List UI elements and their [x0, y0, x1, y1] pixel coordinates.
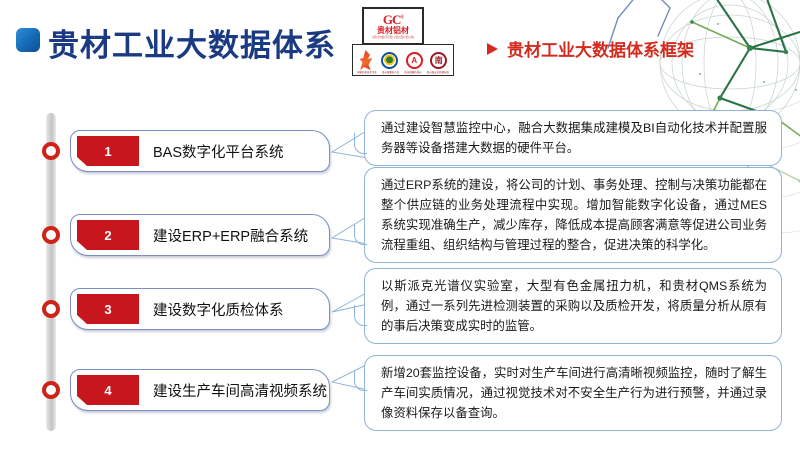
timeline-node-4 [42, 381, 60, 399]
timeline-item-3[interactable]: 3 建设数字化质检体系 [70, 288, 330, 330]
timeline-node-1 [42, 142, 60, 160]
timeline-node-3 [42, 300, 60, 318]
timeline-number-4: 4 [77, 375, 139, 405]
timeline-description-text-1: 通过建设智慧监控中心，融合大数据集成建模及BI自动化技术并配置服务器等设备搭建大… [381, 121, 767, 155]
seal-dark-red-icon [430, 52, 447, 69]
certificate-captions: 国家高新技术企业 贵州省著名产品 贵州省著名商标 贵州省安全质量标准 [355, 70, 452, 74]
page-title: 贵材工业大数据体系 [48, 20, 336, 65]
flame-badge-icon [359, 50, 374, 70]
bubble-tail-1 [354, 133, 367, 154]
certificate-caption: 国家高新技术企业 [357, 70, 377, 74]
seal-red-a-icon [406, 52, 423, 69]
timeline-node-2 [42, 226, 60, 244]
timeline-item-4[interactable]: 4 建设生产车间高清视频系统 [70, 369, 330, 411]
brand-logo-name: 贵材铝材 [377, 27, 409, 35]
timeline-description-4: 新增20套监控设备，实时对生产车间进行高清晰视频监控，随时了解生产车间实质情况，… [364, 355, 782, 431]
framework-heading-label: 贵材工业大数据体系框架 [507, 36, 694, 61]
brand-logo-mark: GC® [383, 13, 403, 26]
brand-logo-mark-text: GC [383, 12, 401, 27]
square-bullet-icon [16, 28, 40, 52]
timeline-number-2: 2 [77, 220, 139, 250]
brand-logo: GC® 贵材铝材 [铝]合[板]带[箔] [铝][窗][型][材] [362, 7, 424, 45]
timeline-description-text-4: 新增20套监控设备，实时对生产车间进行高清晰视频监控，随时了解生产车间实质情况，… [381, 366, 767, 420]
certificate-caption: 贵州省著名商标 [404, 70, 421, 74]
timeline-label-1: BAS数字化平台系统 [153, 141, 284, 162]
framework-heading: 贵材工业大数据体系框架 [487, 36, 694, 61]
timeline-number-1: 1 [77, 136, 139, 166]
certificate-caption: 贵州省安全质量标准 [427, 70, 449, 74]
timeline-label-2: 建设ERP+ERP融合系统 [153, 225, 308, 246]
triangle-right-icon [487, 43, 498, 55]
timeline-description-2: 通过ERP系统的建设，将公司的计划、事务处理、控制与决策功能都在整个供应链的业务… [364, 167, 782, 263]
slide-canvas: 贵材工业大数据体系 GC® 贵材铝材 [铝]合[板]带[箔] [铝][窗][型]… [0, 0, 800, 450]
timeline-label-3: 建设数字化质检体系 [153, 299, 284, 320]
brand-logo-subtext: [铝]合[板]带[箔] [铝][窗][型][材] [372, 36, 414, 39]
timeline-description-text-3: 以斯派克光谱仪实验室，大型有色金属扭力机，和贵材QMS系统为例，通过一系列先进检… [381, 279, 767, 333]
timeline-description-1: 通过建设智慧监控中心，融合大数据集成建模及BI自动化技术并配置服务器等设备搭建大… [364, 110, 782, 166]
timeline-number-3: 3 [77, 294, 139, 324]
timeline-description-3: 以斯派克光谱仪实验室，大型有色金属扭力机，和贵材QMS系统为例，通过一系列先进检… [364, 268, 782, 344]
bubble-tail-3 [354, 305, 367, 326]
certificate-caption: 贵州省著名产品 [382, 70, 399, 74]
timeline-label-4: 建设生产车间高清视频系统 [153, 380, 327, 401]
timeline-description-text-2: 通过ERP系统的建设，将公司的计划、事务处理、控制与决策功能都在整个供应链的业务… [381, 178, 767, 252]
timeline-item-1[interactable]: 1 BAS数字化平台系统 [70, 130, 330, 172]
timeline-item-2[interactable]: 2 建设ERP+ERP融合系统 [70, 214, 330, 256]
bubble-tail-4 [354, 370, 367, 391]
registered-mark-icon: ® [400, 16, 403, 21]
seal-blue-green-icon [381, 52, 398, 69]
bubble-tail-2 [354, 224, 367, 245]
